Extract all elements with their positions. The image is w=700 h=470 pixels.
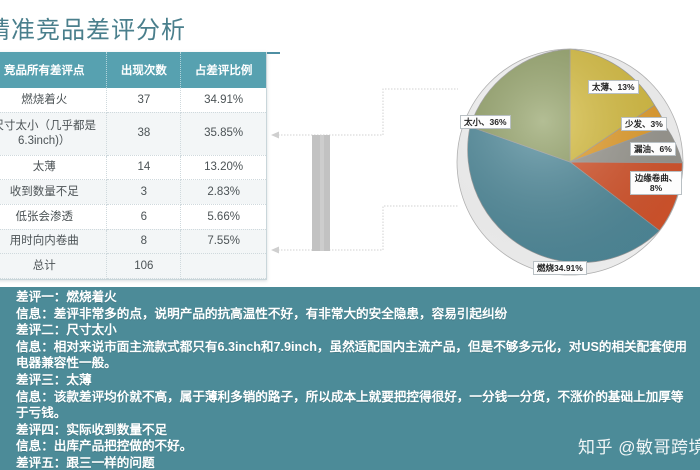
pie-label-edge-curl: 边缘卷曲、 8% (630, 171, 682, 195)
cell-pct: 34.91% (181, 88, 266, 112)
table-row: 低张会渗透 6 5.66% (0, 204, 266, 229)
analysis-notes-panel: 差评一：燃烧着火 信息：差评非常多的点，说明产品的抗高温性不好，有非常大的安全隐… (0, 287, 700, 470)
pie-label-short-shipped: 少发、3% (621, 117, 667, 131)
table-row: 太薄 14 13.20% (0, 155, 266, 180)
pie-label-burning: 燃烧34.91% (533, 261, 587, 275)
cell-name: 收到数量不足 (0, 180, 107, 205)
table-header-cell-name: 竞品所有差评点 (0, 52, 107, 88)
table-row: 尺寸太小（几乎都是 6.3inch)） 38 35.85% (0, 112, 266, 155)
note-body-3: 信息：该款差评均价就不高，属于薄利多销的路子，所以成本上就要把控得很好，一分钱一… (14, 389, 696, 422)
cell-total-pct (181, 254, 266, 279)
arrow-head-upper (271, 132, 279, 139)
connector-arrow-group (268, 86, 458, 286)
connector-bar-highlight (320, 135, 324, 251)
cell-total-count: 106 (107, 254, 181, 279)
note-body-1: 信息：差评非常多的点，说明产品的抗高温性不好，有非常大的安全隐患，容易引起纠纷 (14, 306, 696, 323)
cell-pct: 7.55% (181, 229, 266, 254)
cell-pct: 2.83% (181, 180, 266, 205)
page-title: 精准竞品差评分析 (0, 10, 186, 45)
cell-pct: 5.66% (181, 204, 266, 229)
cell-count: 37 (107, 88, 181, 112)
cell-name: 尺寸太小（几乎都是 6.3inch)） (0, 112, 107, 155)
note-heading-1: 差评一：燃烧着火 (14, 289, 696, 306)
table-header-row: 竞品所有差评点 出现次数 占差评比例 (0, 52, 266, 88)
table-header-cell-count: 出现次数 (107, 52, 181, 88)
cell-count: 8 (107, 229, 181, 254)
cell-name: 太薄 (0, 155, 107, 180)
watermark: 知乎 @敏哥跨境 (578, 433, 700, 458)
table-row: 燃烧着火 37 34.91% (0, 88, 266, 112)
pie-chart: 太小、36% 太薄、13% 少发、3% 漏油、6% 边缘卷曲、 8% 燃烧34.… (450, 34, 700, 286)
pie-label-oil-leak: 漏油、6% (630, 142, 676, 156)
title-area: 精准竞品差评分析 (0, 6, 300, 48)
cell-count: 38 (107, 112, 181, 155)
connector-dotted-upper (338, 89, 458, 135)
cell-count: 3 (107, 180, 181, 205)
cell-name: 用时向内卷曲 (0, 229, 107, 254)
cell-name: 低张会渗透 (0, 204, 107, 229)
cell-total-label: 总计 (0, 254, 107, 279)
pie-label-too-thin: 太薄、13% (588, 80, 639, 94)
pie-label-too-small: 太小、36% (460, 115, 511, 129)
connector-dotted-lower (338, 206, 458, 250)
cell-name: 燃烧着火 (0, 88, 107, 112)
table-row: 收到数量不足 3 2.83% (0, 180, 266, 205)
table-header-cell-pct: 占差评比例 (181, 52, 266, 88)
cell-pct: 13.20% (181, 155, 266, 180)
table-row: 用时向内卷曲 8 7.55% (0, 229, 266, 254)
cell-pct: 35.85% (181, 112, 266, 155)
pie-outline (457, 49, 683, 275)
cell-count: 14 (107, 155, 181, 180)
note-heading-2: 差评二：尺寸太小 (14, 322, 696, 339)
competitor-review-table: 竞品所有差评点 出现次数 占差评比例 燃烧着火 37 34.91% 尺寸太小（几… (0, 52, 266, 279)
arrow-head-lower (271, 247, 279, 254)
table-total-row: 总计 106 (0, 254, 266, 279)
competitor-review-table-container: 竞品所有差评点 出现次数 占差评比例 燃烧着火 37 34.91% 尺寸太小（几… (0, 52, 267, 280)
note-heading-3: 差评三：太薄 (14, 372, 696, 389)
note-body-2: 信息：相对来说市面主流款式都只有6.3inch和7.9inch，虽然适配国内主流… (14, 339, 696, 372)
cell-count: 6 (107, 204, 181, 229)
